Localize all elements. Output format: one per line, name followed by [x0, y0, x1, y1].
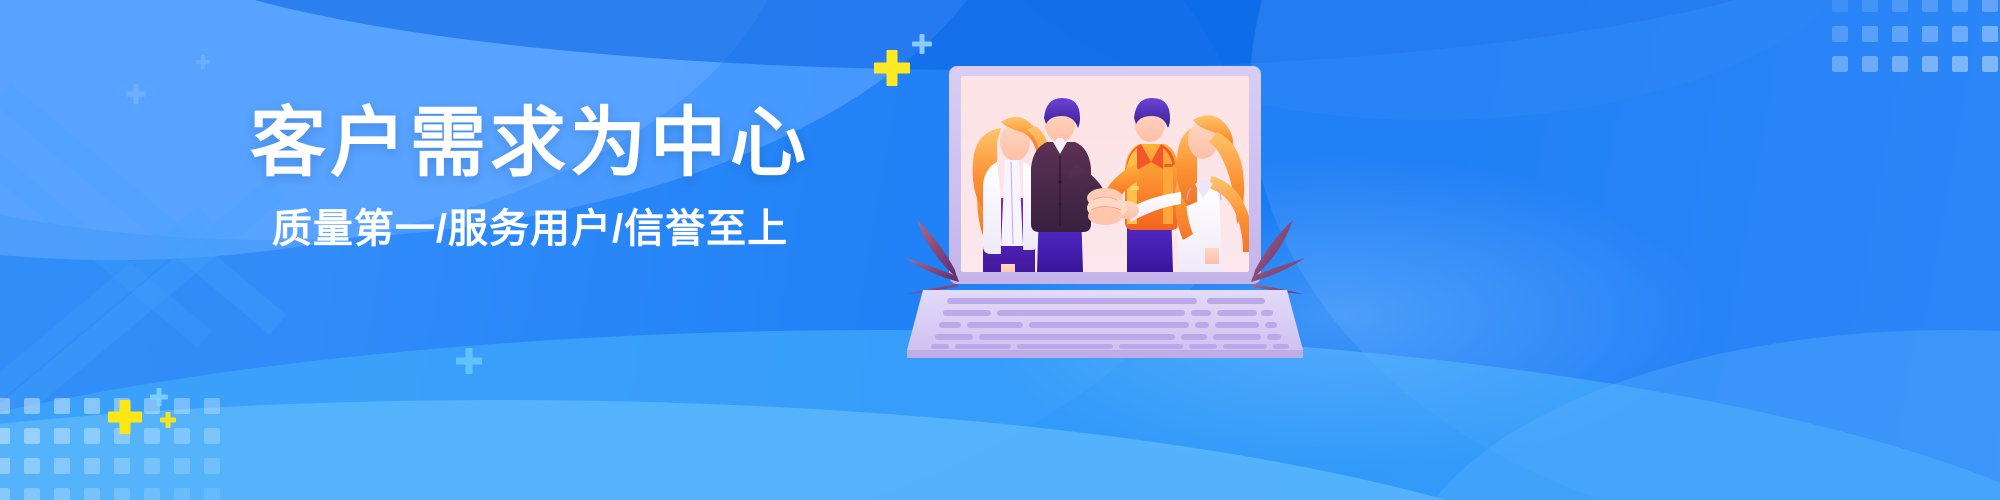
grid-dot [54, 488, 70, 500]
grid-dot [204, 398, 220, 414]
grid-dot [204, 428, 220, 444]
grid-dot [1952, 26, 1968, 42]
grid-dot [174, 428, 190, 444]
promo-banner: 客户需求为中心 质量第一/服务用户/信誉至上 [0, 0, 2000, 500]
grid-dot [24, 488, 40, 500]
grid-dot [0, 428, 10, 444]
grid-dot [1832, 56, 1848, 72]
grid-dot [114, 458, 130, 474]
grid-dot [1922, 0, 1938, 12]
grid-dot [144, 428, 160, 444]
grid-dot [174, 398, 190, 414]
grid-dot [144, 488, 160, 500]
grid-dot [1922, 56, 1938, 72]
grid-dot [144, 458, 160, 474]
grid-dot [1922, 26, 1938, 42]
plus-icon-yellow-small [108, 400, 142, 434]
plus-icon-cyan-top-right [912, 34, 932, 54]
grid-dot [114, 488, 130, 500]
grid-dot [84, 398, 100, 414]
grid-dot [1892, 26, 1908, 42]
plus-icon-cyan-bottom-left [150, 388, 168, 406]
grid-dot [1982, 0, 1998, 12]
grid-dot [24, 428, 40, 444]
banner-copy: 客户需求为中心 质量第一/服务用户/信誉至上 [250, 104, 810, 253]
grid-dot [54, 458, 70, 474]
grid-dot [0, 398, 10, 414]
grid-dot [1832, 26, 1848, 42]
grid-dot [84, 428, 100, 444]
grid-dot [1952, 56, 1968, 72]
laptop-base [907, 290, 1303, 358]
plus-icon-yellow-tiny [160, 412, 176, 428]
grid-dot [204, 488, 220, 500]
grid-dot [1982, 56, 1998, 72]
grid-dot [1892, 0, 1908, 12]
banner-subtitle: 质量第一/服务用户/信誉至上 [250, 205, 810, 253]
grid-dot [1892, 56, 1908, 72]
grid-dot [1862, 0, 1878, 12]
grid-dot [1982, 26, 1998, 42]
grid-dot [174, 488, 190, 500]
page-title: 客户需求为中心 [250, 104, 810, 183]
dot-grid-top-right [1832, 0, 2000, 72]
plus-icon-cyan-upper-left [126, 84, 146, 104]
grid-dot [54, 428, 70, 444]
grid-dot [1862, 56, 1878, 72]
grid-dot [1952, 0, 1968, 12]
grid-dot [24, 398, 40, 414]
grid-dot [174, 458, 190, 474]
plus-icon-cyan-center-bottom [456, 348, 482, 374]
grid-dot [1832, 0, 1848, 12]
grid-dot [84, 458, 100, 474]
grid-dot [204, 458, 220, 474]
grid-dot [84, 488, 100, 500]
grid-dot [1862, 26, 1878, 42]
grid-dot [54, 398, 70, 414]
grid-dot [0, 488, 10, 500]
grid-dot [24, 458, 40, 474]
plus-icon-cyan-upper-left-small [196, 55, 210, 69]
laptop-team-illustration [905, 58, 1305, 358]
grid-dot [0, 458, 10, 474]
